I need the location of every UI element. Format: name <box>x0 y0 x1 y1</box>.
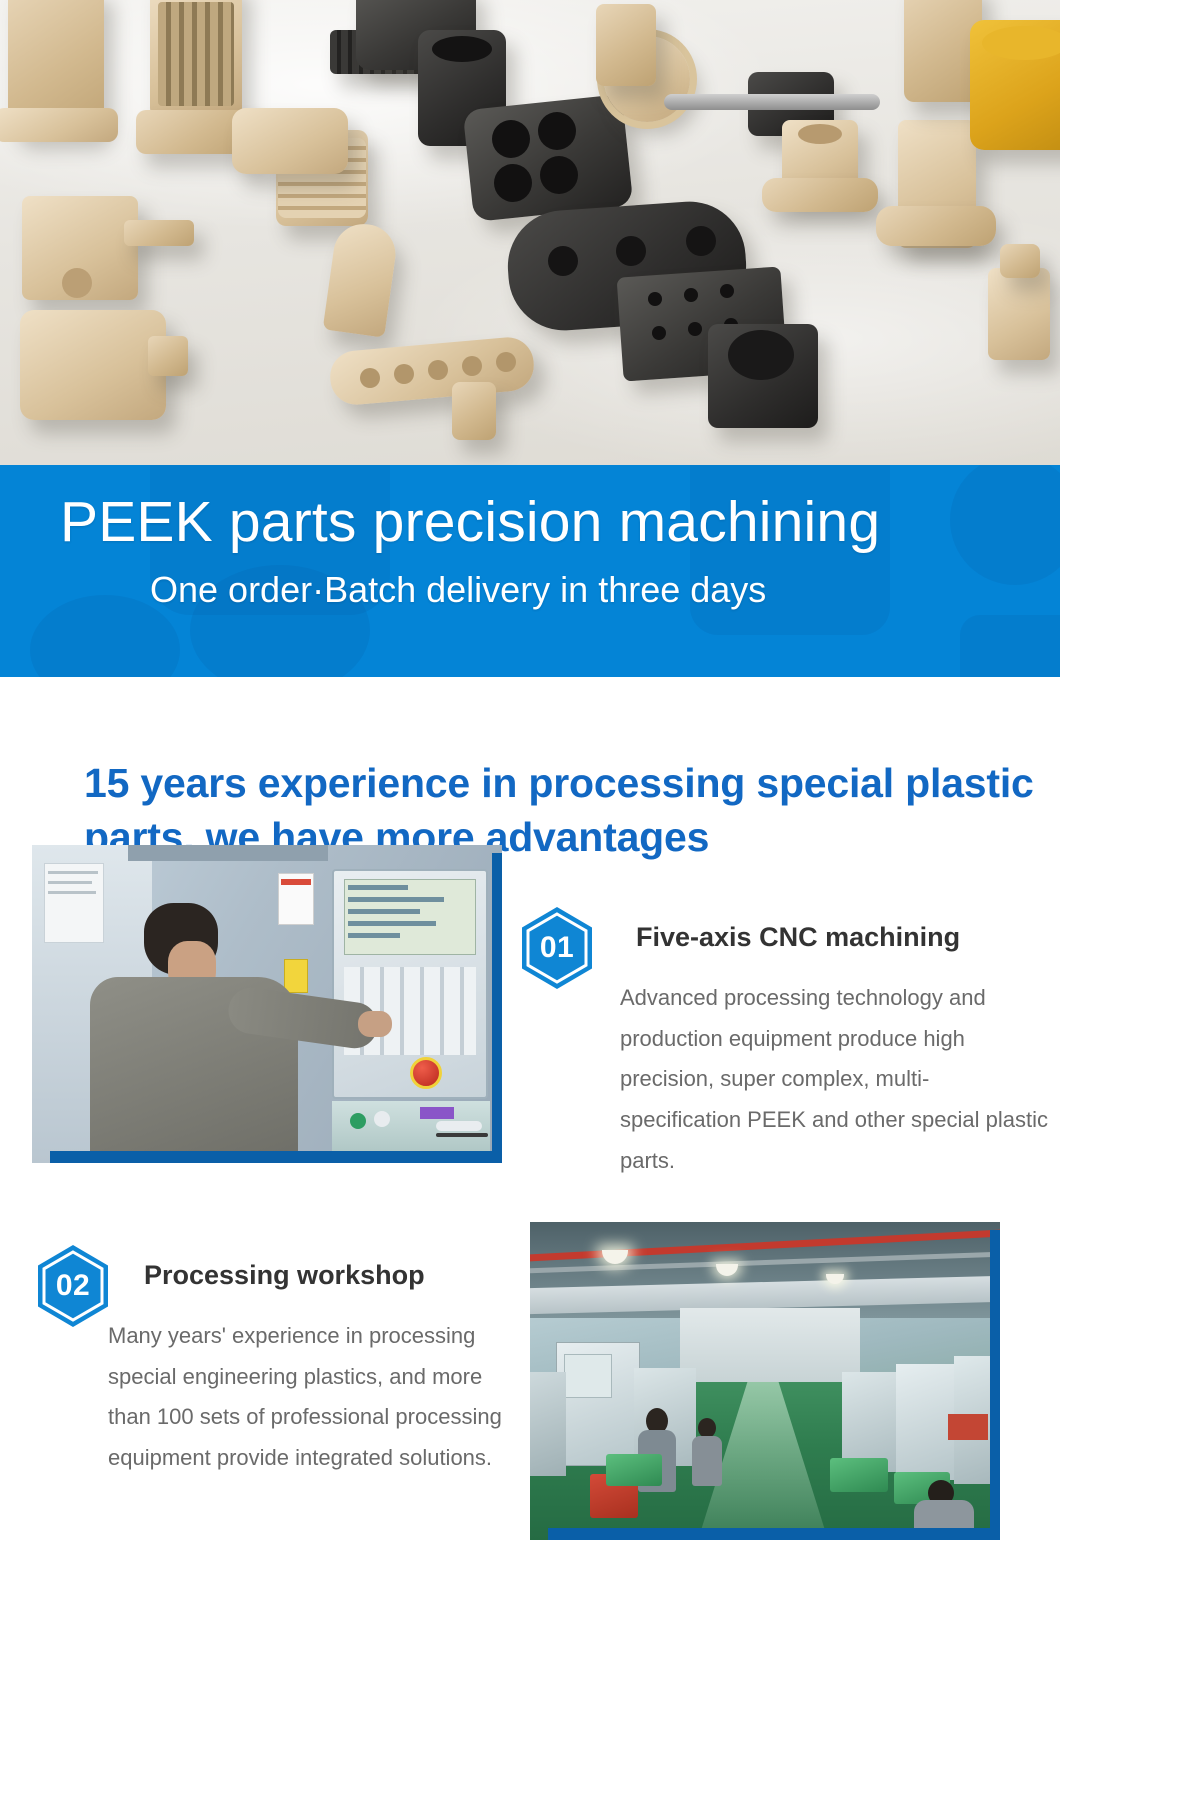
product-detail-page: PEEK parts precision machining One order… <box>0 0 1200 1796</box>
feature-01-frame-bottom <box>50 1151 502 1163</box>
part-flange-plate <box>232 108 348 174</box>
feature-02-title: Processing workshop <box>144 1260 425 1291</box>
feature-01-body: Advanced processing technology and produ… <box>620 978 1050 1181</box>
feature-01-photo <box>32 845 502 1163</box>
part-bar-hole <box>394 364 414 384</box>
banner-ghost-shape <box>960 615 1060 677</box>
feature-02-frame-bottom <box>548 1528 1000 1540</box>
feature-01-frame-right <box>492 853 502 1163</box>
feature-01-image <box>32 845 502 1163</box>
feature-01-title: Five-axis CNC machining <box>636 922 960 953</box>
part-bar-boss <box>452 382 496 440</box>
part-tan-housing <box>20 310 166 420</box>
feature-02-body: Many years' experience in processing spe… <box>108 1316 508 1479</box>
part-cage-slots <box>158 2 234 106</box>
banner-title: PEEK parts precision machining <box>60 489 880 555</box>
part-bar-hole <box>462 356 482 376</box>
part-dark-hub-bore <box>728 330 794 380</box>
part-block-hole <box>648 292 662 306</box>
part-manifold-port <box>494 164 532 202</box>
part-shaft-rod <box>664 94 880 110</box>
banner-ghost-shape <box>950 465 1060 585</box>
part-bushing-flange <box>762 178 878 212</box>
part-l-fitting-nozzle <box>124 220 194 246</box>
part-amber-cup-bore <box>982 26 1060 60</box>
part-stepped-plug-cap <box>1000 244 1040 278</box>
part-block-hole <box>688 322 702 336</box>
feature-01-badge-number: 01 <box>540 931 574 965</box>
part-cylinder-bore <box>432 36 492 62</box>
part-l-fitting-bore <box>62 268 92 298</box>
part-manifold-port <box>540 156 578 194</box>
feature-02-frame-right <box>990 1230 1000 1540</box>
feature-02-badge: 02 <box>36 1244 110 1328</box>
part-bar-hole <box>496 352 516 372</box>
hero-parts-photo <box>0 0 1060 470</box>
feature-02-image <box>530 1222 1000 1540</box>
part-bushing-tall-flange <box>876 206 996 246</box>
part-block-hole <box>684 288 698 302</box>
part-bar-hole <box>360 368 380 388</box>
feature-01-badge: 01 <box>520 906 594 990</box>
part-tan-housing-tab <box>148 336 188 376</box>
part-stepped-plug <box>988 268 1050 360</box>
part-manifold-port <box>538 112 576 150</box>
part-bar-hole <box>428 360 448 380</box>
part-manifold-port <box>492 120 530 158</box>
part-block-hole <box>652 326 666 340</box>
part-plate-hole <box>686 226 716 256</box>
part-tan-spool-flange <box>0 108 118 142</box>
part-gear-hub <box>596 4 656 86</box>
feature-02-badge-number: 02 <box>56 1269 90 1303</box>
part-bushing-bore <box>798 124 842 144</box>
banner-subtitle: One order·Batch delivery in three days <box>150 569 766 611</box>
part-block-hole <box>720 284 734 298</box>
part-plate-hole <box>616 236 646 266</box>
part-plate-hole <box>548 246 578 276</box>
hero-banner: PEEK parts precision machining One order… <box>0 465 1060 677</box>
feature-02-photo <box>530 1222 1000 1540</box>
